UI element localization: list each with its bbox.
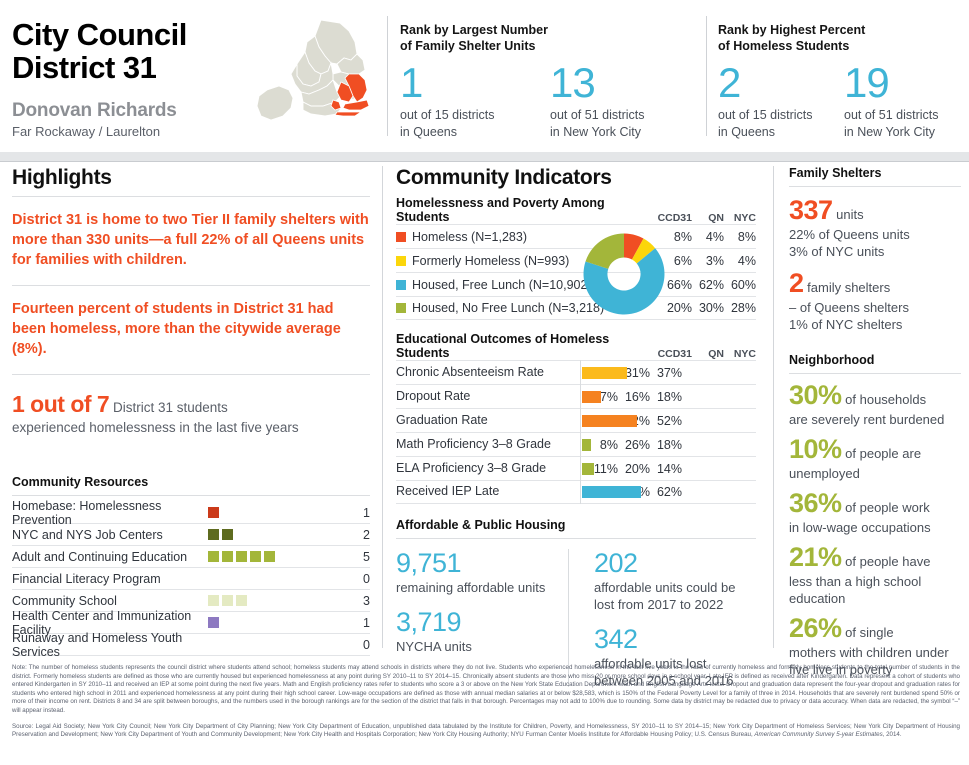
value-bar [582,391,601,403]
footnote-note: Note: The number of homeless students re… [12,664,960,716]
housing-stat: 9,751 remaining affordable units [396,547,562,596]
resource-row: Financial Literacy Program0 [12,568,370,590]
housing-stat-number: 202 [594,547,742,579]
value-nyc: 52% [650,414,682,428]
legend-swatch-icon [396,256,406,266]
value-nyc: 18% [650,390,682,404]
family-shelter-stat: 337 units 22% of Queens units 3% of NYC … [789,195,961,260]
value-qn: 16% [618,390,650,404]
neighborhood-stat-text: of households [842,392,927,407]
footnotes: Note: The number of homeless students re… [12,664,960,740]
neighborhood-stat-line-2: are severely rent burdened [789,411,961,428]
header-band [0,152,969,161]
neighborhood-stat-number: 26% [789,613,842,643]
column-divider-left [382,166,383,648]
column-header-nyc: NYC [724,348,756,360]
rank-stat: 19 out of 51 districts in New York City [844,60,969,140]
row-label-text: Chronic Absenteeism Rate [396,365,544,379]
resource-count: 3 [344,594,370,608]
page-title: City Council District 31 [12,18,187,84]
resource-row: Runaway and Homeless Youth Services0 [12,634,370,656]
resource-chip [222,551,233,562]
resource-chip [208,507,219,518]
value-nyc: 60% [724,278,756,292]
row-bar-cell: Received IEP Late [396,480,578,504]
row-label-text: Math Proficiency 3–8 Grade [396,437,551,451]
divider [12,285,370,286]
nyc-borough-map-icon [245,16,380,144]
column-header-ccd31: CCD31 [652,348,692,360]
title-line-2: District 31 [12,51,187,84]
education-table-title: Educational Outcomes of Homeless Student… [396,332,652,360]
value-nyc: 4% [724,254,756,268]
resource-row: Adult and Continuing Education5 [12,546,370,568]
family-shelter-line-2: 1% of NYC shelters [789,316,961,333]
neighborhood-stat: 21% of people haveless than a high schoo… [789,542,961,607]
family-shelter-unit: units [833,207,864,222]
education-table: Chronic Absenteeism Rate40%31%37%Dropout… [396,360,756,504]
divider [12,495,370,496]
housing-stat-label: NYCHA units [396,638,562,655]
bar-baseline [580,360,581,504]
resource-label: Homebase: Homelessness Prevention [12,499,208,527]
resource-label: Community School [12,594,208,608]
housing-stat-number: 9,751 [396,547,562,579]
rank-number: 13 [550,60,700,106]
housing-stat-number: 3,719 [396,606,562,638]
row-bar-cell: Graduation Rate [396,409,578,433]
neighborhood-stat-line-2: unemployed [789,465,961,482]
value-bar [582,415,637,427]
family-shelter-line-1: 22% of Queens units [789,226,961,243]
council-member-name: Donovan Richards [12,100,177,122]
column-header-nyc: NYC [724,212,756,224]
right-column: Family Shelters 337 units 22% of Queens … [789,166,961,678]
neighborhood-stat-line-2: less than a high school education [789,573,961,607]
community-indicators-heading: Community Indicators [396,166,756,190]
infographic-page: City Council District 31 Donovan Richard… [0,0,969,765]
neighborhood-stat: 10% of people areunemployed [789,434,961,482]
neighborhood-stat-text: of single [842,625,894,640]
resource-chip [264,551,275,562]
row-bar-cell: ELA Proficiency 3–8 Grade [396,457,578,481]
header-band-line [0,161,969,162]
header-divider-2 [706,16,707,136]
rank-block-shelter-units: Rank by Largest Number of Family Shelter… [400,22,700,140]
row-bar-cell: Chronic Absenteeism Rate [396,361,578,385]
rank-stat: 13 out of 51 districts in New York City [550,60,700,140]
value-nyc: 14% [650,462,682,476]
rank-block-title: Rank by Highest Percent of Homeless Stud… [718,22,969,54]
rank-sub-line-1: out of 15 districts [400,108,550,123]
community-resources-heading: Community Resources [12,475,370,489]
highlight-stat-number: 1 out of 7 [12,391,109,417]
rank-block-title: Rank by Largest Number of Family Shelter… [400,22,700,54]
rank-number: 2 [718,60,844,106]
neighborhood-stat-number: 10% [789,434,842,464]
rank-title-line-1: Rank by Largest Number [400,22,700,38]
neighborhood-list: 30% of householdsare severely rent burde… [789,380,961,678]
header: City Council District 31 Donovan Richard… [0,0,969,152]
row-bar-cell: Math Proficiency 3–8 Grade [396,433,578,457]
neighborhood-stat-line-2: in low-wage occupations [789,519,961,536]
table-row: Dropout Rate17%16%18% [396,384,756,408]
source-italic: American Community Survey 5-year Estimat… [754,731,882,738]
neighborhood-stat-text: of people work [842,500,930,515]
housing-stat-label: affordable units could be lost from 2017… [594,579,742,613]
resource-chip [236,551,247,562]
resource-chip [250,551,261,562]
neighborhoods-label: Far Rockaway / Laurelton [12,124,160,139]
resource-chips [208,507,344,518]
value-nyc: 37% [650,366,682,380]
rank-stat: 2 out of 15 districts in Queens [718,60,844,140]
family-shelter-unit: family shelters [804,280,891,295]
value-bar [582,486,641,498]
rank-sub-line-2: in New York City [844,125,969,140]
value-nyc: 62% [650,485,682,499]
table-row: Chronic Absenteeism Rate40%31%37% [396,360,756,384]
row-label-text: Housed, Free Lunch (N=10,902) [412,278,592,292]
resource-count: 1 [344,616,370,630]
rank-title-line-2: of Family Shelter Units [400,38,700,54]
value-nyc: 28% [724,301,756,315]
row-label-text: Housed, No Free Lunch (N=3,218) [412,301,604,315]
row-label-text: Formerly Homeless (N=993) [412,254,569,268]
neighborhood-section: Neighborhood 30% of householdsare severe… [789,353,961,678]
rank-sub-line-1: out of 51 districts [844,108,969,123]
value-qn: 20% [618,462,650,476]
rank-sub-line-2: in Queens [400,125,550,140]
resource-label: Financial Literacy Program [12,572,208,586]
highlight-text-2: Fourteen percent of students in District… [12,292,370,368]
resource-chip [222,595,233,606]
table-row: ELA Proficiency 3–8 Grade11%20%14% [396,456,756,480]
resource-count: 5 [344,550,370,564]
resource-chip [222,529,233,540]
resource-chips [208,595,344,606]
resource-label: Runaway and Homeless Youth Services [12,631,208,659]
rank-stat: 1 out of 15 districts in Queens [400,60,550,140]
housing-stat-number: 342 [594,623,742,655]
housing-stat-label: remaining affordable units [396,579,562,596]
value-qn: 30% [692,301,724,315]
value-qn: 3% [692,254,724,268]
family-shelter-line-1: – of Queens shelters [789,299,961,316]
housing-stat: 3,719 NYCHA units [396,606,562,655]
highlight-text-1: District 31 is home to two Tier II famil… [12,203,370,279]
divider [12,196,370,197]
education-table-header: Educational Outcomes of Homeless Student… [396,332,756,360]
value-nyc: 8% [724,230,756,244]
legend-swatch-icon [396,232,406,242]
resource-row: NYC and NYS Job Centers2 [12,524,370,546]
body: Highlights District 31 is home to two Ti… [0,166,969,656]
row-bar-cell: Dropout Rate [396,385,578,409]
rank-title-line-1: Rank by Highest Percent [718,22,969,38]
rank-sub-line-1: out of 51 districts [550,108,700,123]
value-qn: 62% [692,278,724,292]
value-nyc: 18% [650,438,682,452]
resource-count: 0 [344,638,370,652]
legend-swatch-icon [396,280,406,290]
column-header-qn: QN [692,212,724,224]
title-line-1: City Council [12,18,187,51]
nyc-map [245,16,380,144]
community-indicators-column: Community Indicators Homelessness and Po… [396,166,756,689]
rank-sub-line-1: out of 15 districts [718,108,844,123]
legend-swatch-icon [396,303,406,313]
resource-row: Homebase: Homelessness Prevention1 [12,502,370,524]
family-shelter-line-2: 3% of NYC units [789,243,961,260]
homelessness-table-header: Homelessness and Poverty Among Students … [396,196,756,224]
rank-sub-line-2: in New York City [550,125,700,140]
homelessness-donut-chart [578,228,670,320]
resource-chip [208,529,219,540]
highlights-heading: Highlights [12,166,370,190]
rank-block-homeless-students: Rank by Highest Percent of Homeless Stud… [718,22,969,140]
table-row: Math Proficiency 3–8 Grade8%26%18% [396,432,756,456]
neighborhood-stat-number: 21% [789,542,842,572]
resource-count: 1 [344,506,370,520]
table-row: Housed, Free Lunch (N=10,902)66%62%60% [396,272,756,296]
header-divider-1 [387,16,388,136]
column-header-qn: QN [692,348,724,360]
table-row: Housed, No Free Lunch (N=3,218)20%30%28% [396,296,756,320]
row-label-text: Graduation Rate [396,413,488,427]
highlight-stat-sub: experienced homelessness in the last fiv… [12,419,370,437]
neighborhood-stat-number: 30% [789,380,842,410]
divider [396,538,756,539]
highlight-stat-label: District 31 students [109,400,228,415]
resource-label: Adult and Continuing Education [12,550,208,564]
rank-number: 19 [844,60,969,106]
value-qn: 26% [618,438,650,452]
divider [789,373,961,374]
homelessness-table-title: Homelessness and Poverty Among Students [396,196,652,224]
neighborhood-stat-number: 36% [789,488,842,518]
row-label-text: Homeless (N=1,283) [412,230,527,244]
divider [789,186,961,187]
source-suffix: , 2014. [883,731,902,738]
family-shelters-heading: Family Shelters [789,166,961,180]
neighborhood-stat-text: of people are [842,446,922,461]
neighborhood-stat: 30% of householdsare severely rent burde… [789,380,961,428]
column-divider-right [773,166,774,648]
highlight-stat: 1 out of 7 District 31 students experien… [12,381,370,437]
affordable-housing-title: Affordable & Public Housing [396,518,756,532]
value-bar [582,463,594,475]
table-row: Received IEP Late53%58%62% [396,480,756,504]
rank-number: 1 [400,60,550,106]
resource-label: NYC and NYS Job Centers [12,528,208,542]
resource-chips [208,617,344,628]
neighborhood-heading: Neighborhood [789,353,961,367]
table-row: Graduation Rate49%62%52% [396,408,756,432]
row-label-text: ELA Proficiency 3–8 Grade [396,461,546,475]
resource-chips [208,529,344,540]
resource-chip [208,617,219,628]
rank-title-line-2: of Homeless Students [718,38,969,54]
neighborhood-stat: 36% of people workin low-wage occupation… [789,488,961,536]
row-label-text: Dropout Rate [396,389,470,403]
community-resources-list: Homebase: Homelessness Prevention1NYC an… [12,502,370,656]
table-row: Formerly Homeless (N=993)6%3%4% [396,248,756,272]
footnote-source: Source: Legal Aid Society; New York City… [12,723,960,740]
resource-count: 0 [344,572,370,586]
family-shelter-stat: 2 family shelters – of Queens shelters 1… [789,268,961,333]
column-header-ccd31: CCD31 [652,212,692,224]
highlights-column: Highlights District 31 is home to two Ti… [12,166,370,656]
value-bar [582,439,591,451]
family-shelter-number: 2 [789,268,804,298]
neighborhood-stat-text: of people have [842,554,931,569]
rank-sub-line-2: in Queens [718,125,844,140]
value-bar [582,367,627,379]
resource-chip [208,595,219,606]
value-qn: 4% [692,230,724,244]
family-shelter-number: 337 [789,195,833,225]
row-label-text: Received IEP Late [396,484,499,498]
resource-count: 2 [344,528,370,542]
table-row: Homeless (N=1,283)8%4%8% [396,224,756,248]
housing-stat: 202 affordable units could be lost from … [594,547,742,613]
resource-chips [208,551,344,562]
community-resources: Community Resources Homebase: Homelessne… [12,475,370,656]
resource-chip [236,595,247,606]
homelessness-table: Homeless (N=1,283)8%4%8%Formerly Homeles… [396,224,756,320]
resource-chip [208,551,219,562]
divider [12,374,370,375]
